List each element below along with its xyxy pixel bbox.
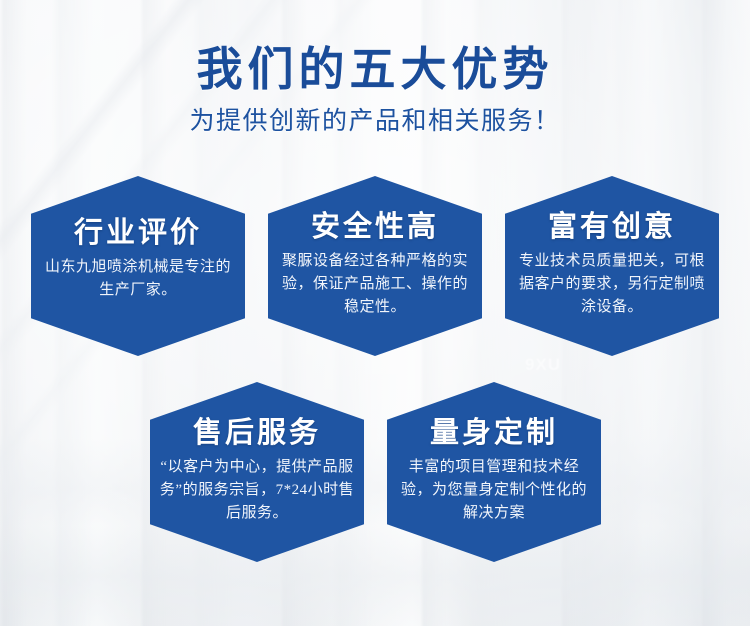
- advantage-title: 售后服务: [156, 382, 358, 450]
- heading-block: 我们的五大优势 为提供创新的产品和相关服务！: [0, 42, 750, 138]
- advantage-card-creative[interactable]: 富有创意 专业技术员质量把关，可根据客户的要求，另行定制喷涂设备。: [505, 176, 719, 356]
- advantage-title: 安全性高: [274, 176, 476, 244]
- page-title: 我们的五大优势: [0, 42, 750, 98]
- advantage-body: 山东九旭喷涂机械是专注的生产厂家。: [40, 256, 236, 302]
- advantage-title: 富有创意: [511, 176, 713, 244]
- advantage-card-high-safety[interactable]: 安全性高 聚脲设备经过各种严格的实验，保证产品施工、操作的稳定性。: [268, 176, 482, 356]
- advantage-title: 量身定制: [393, 382, 595, 450]
- advantage-card-industry-evaluation[interactable]: 行业评价 山东九旭喷涂机械是专注的生产厂家。: [31, 176, 245, 356]
- advantage-card-tailor-made[interactable]: 量身定制 丰富的项目管理和技术经验，为您量身定制个性化的解决方案: [387, 382, 601, 562]
- advantage-body: 专业技术员质量把关，可根据客户的要求，另行定制喷涂设备。: [514, 250, 710, 319]
- advantage-body: 丰富的项目管理和技术经验，为您量身定制个性化的解决方案: [394, 456, 594, 525]
- page-subtitle: 为提供创新的产品和相关服务！: [0, 106, 750, 138]
- advantages-banner: 9XU 我们的五大优势 为提供创新的产品和相关服务！ 行业评价 山东九旭喷涂机械…: [0, 0, 750, 626]
- advantage-title: 行业评价: [37, 176, 239, 250]
- advantage-body: 聚脲设备经过各种严格的实验，保证产品施工、操作的稳定性。: [277, 250, 473, 319]
- advantage-body: “以客户为中心，提供产品服务”的服务宗旨，7*24小时售后服务。: [157, 456, 357, 525]
- advantage-card-after-sales-service[interactable]: 售后服务 “以客户为中心，提供产品服务”的服务宗旨，7*24小时售后服务。: [150, 382, 364, 562]
